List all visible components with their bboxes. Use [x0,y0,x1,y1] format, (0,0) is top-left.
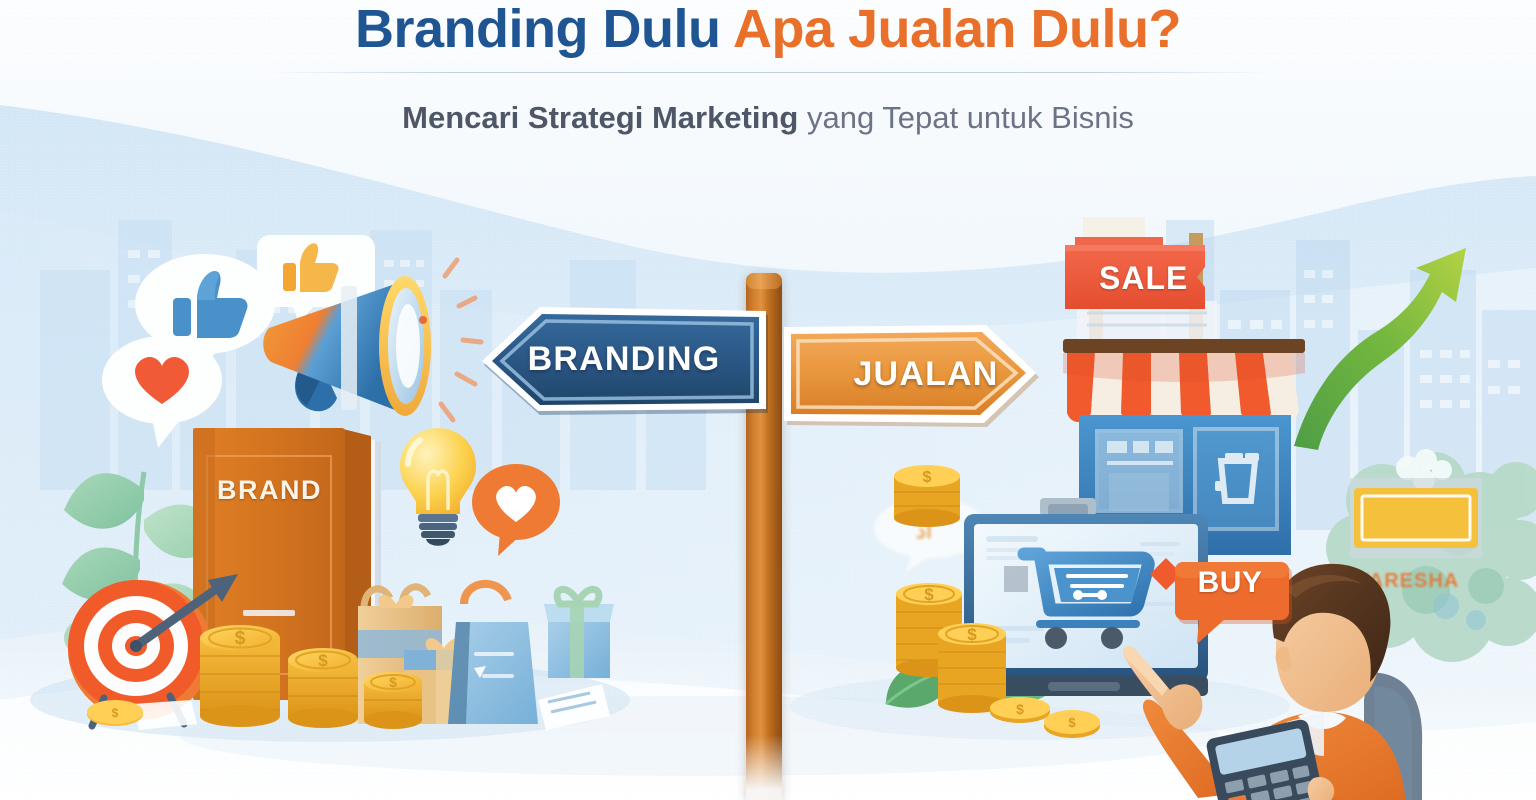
page-title: Branding Dulu Apa Jualan Dulu? [0,0,1536,58]
svg-text:$: $ [1068,715,1076,730]
storefront: SALE [1055,215,1355,545]
sale-sign-label: SALE [1099,260,1188,297]
loose-coin-and-paper: $ [85,694,205,744]
svg-text:$: $ [389,674,397,690]
coin-stack-group-right: $ $ $ [886,572,1046,742]
sign-branding-label: BRANDING [480,305,774,413]
coin-stack-group-left: $ $ $ [192,604,422,744]
svg-text:$: $ [967,625,977,644]
subtitle-light: yang Tepat untuk Bisnis [798,100,1133,135]
person-shopping-online [1118,516,1438,800]
svg-text:$: $ [112,706,119,720]
subtitle-bold: Mencari Strategi Marketing [402,100,798,135]
buy-label: BUY [1175,566,1285,600]
sign-jualan[interactable]: JUALAN [782,323,1038,425]
svg-text:$: $ [235,628,246,649]
svg-text:$: $ [318,651,328,670]
svg-text:$: $ [924,585,934,604]
sign-branding[interactable]: BRANDING [480,305,768,413]
header: Branding Dulu Apa Jualan Dulu? Mencari S… [0,0,1536,165]
illustration-canvas: BRAND [0,0,1536,800]
pole-fade [746,735,782,800]
title-part-blue: Branding Dulu [355,0,733,59]
buy-bubble[interactable]: BUY [1175,562,1295,640]
header-divider [268,72,1268,73]
title-part-orange: Apa Jualan Dulu? [733,0,1181,59]
page-subtitle: Mencari Strategi Marketing yang Tepat un… [0,98,1536,138]
brand-book-label: BRAND [217,475,322,506]
sign-jualan-label: JUALAN [782,323,1054,425]
loose-coin-right: $ [1040,700,1110,748]
svg-text:$: $ [1016,701,1024,717]
